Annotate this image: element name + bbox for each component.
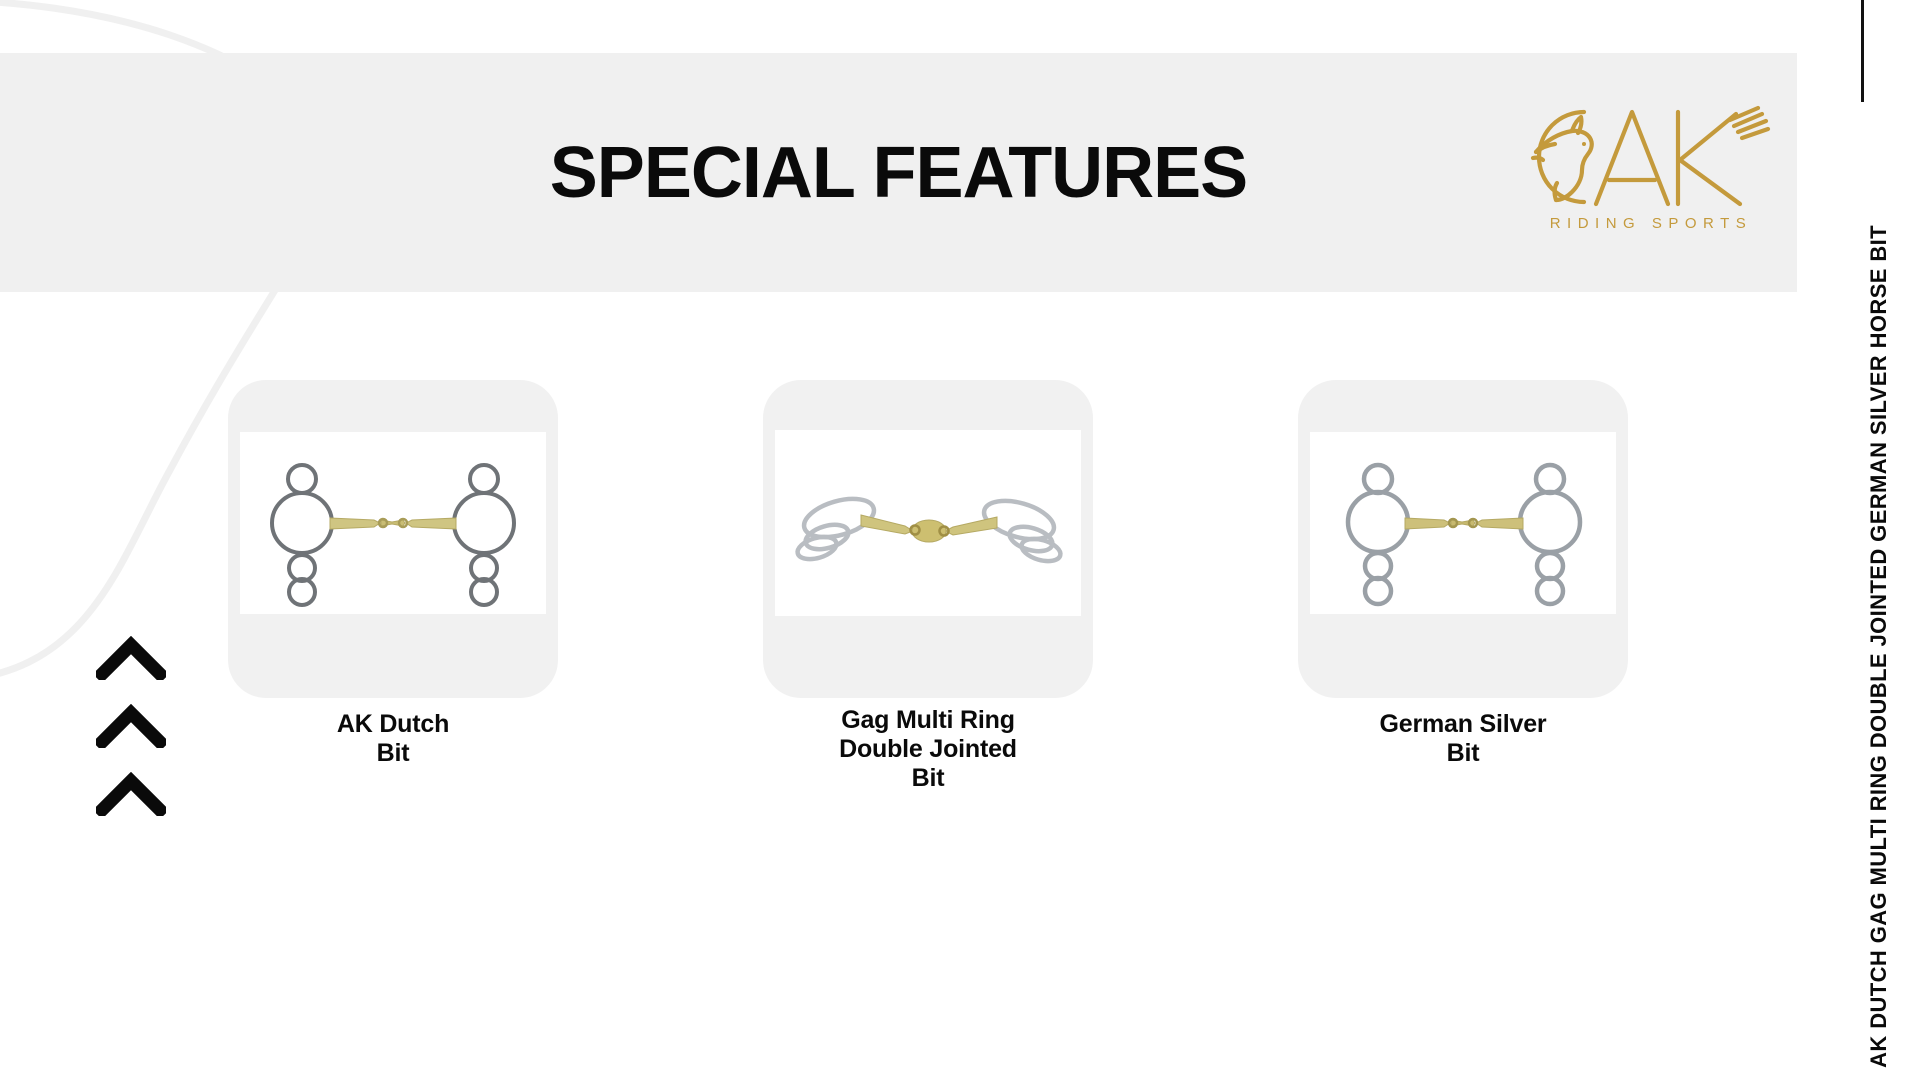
product-card-surface bbox=[763, 380, 1093, 698]
product-card-gag-multi-ring-double-jointed-bit[interactable]: Gag Multi Ring Double Jointed Bit bbox=[763, 380, 1093, 698]
gag-multi-ring-double-jointed-bit-photo bbox=[775, 430, 1081, 616]
product-card-surface bbox=[1298, 380, 1628, 698]
product-label-line: Bit bbox=[208, 739, 578, 768]
product-card-german-silver-bit[interactable]: German Silver Bit bbox=[1298, 380, 1628, 698]
product-label: AK Dutch Bit bbox=[208, 710, 578, 768]
product-label: German Silver Bit bbox=[1278, 710, 1648, 768]
slide-canvas: SPECIAL FEATURES RIDING SPORTS bbox=[0, 0, 1920, 1080]
product-label-line: AK Dutch bbox=[208, 710, 578, 739]
product-label: Gag Multi Ring Double Jointed Bit bbox=[743, 706, 1113, 792]
side-caption: AK DUTCH GAG MULTI RING DOUBLE JOINTED G… bbox=[1856, 118, 1902, 1068]
german-silver-bit-photo bbox=[1310, 432, 1616, 614]
product-label-line: German Silver bbox=[1278, 710, 1648, 739]
top-right-rule bbox=[1861, 0, 1864, 102]
product-label-line: Gag Multi Ring bbox=[743, 706, 1113, 735]
brand-tagline: RIDING SPORTS bbox=[1550, 215, 1753, 232]
product-label-line: Double Jointed bbox=[743, 735, 1113, 764]
product-label-line: Bit bbox=[743, 764, 1113, 793]
product-card-ak-dutch-bit[interactable]: AK Dutch Bit bbox=[228, 380, 558, 698]
product-grid: AK Dutch Bit bbox=[0, 380, 1797, 830]
side-caption-text: AK DUTCH GAG MULTI RING DOUBLE JOINTED G… bbox=[1868, 225, 1890, 1068]
ak-dutch-bit-photo bbox=[240, 432, 546, 614]
oak-riding-sports-logo: RIDING SPORTS bbox=[1508, 100, 1793, 235]
product-label-line: Bit bbox=[1278, 739, 1648, 768]
product-card-surface bbox=[228, 380, 558, 698]
